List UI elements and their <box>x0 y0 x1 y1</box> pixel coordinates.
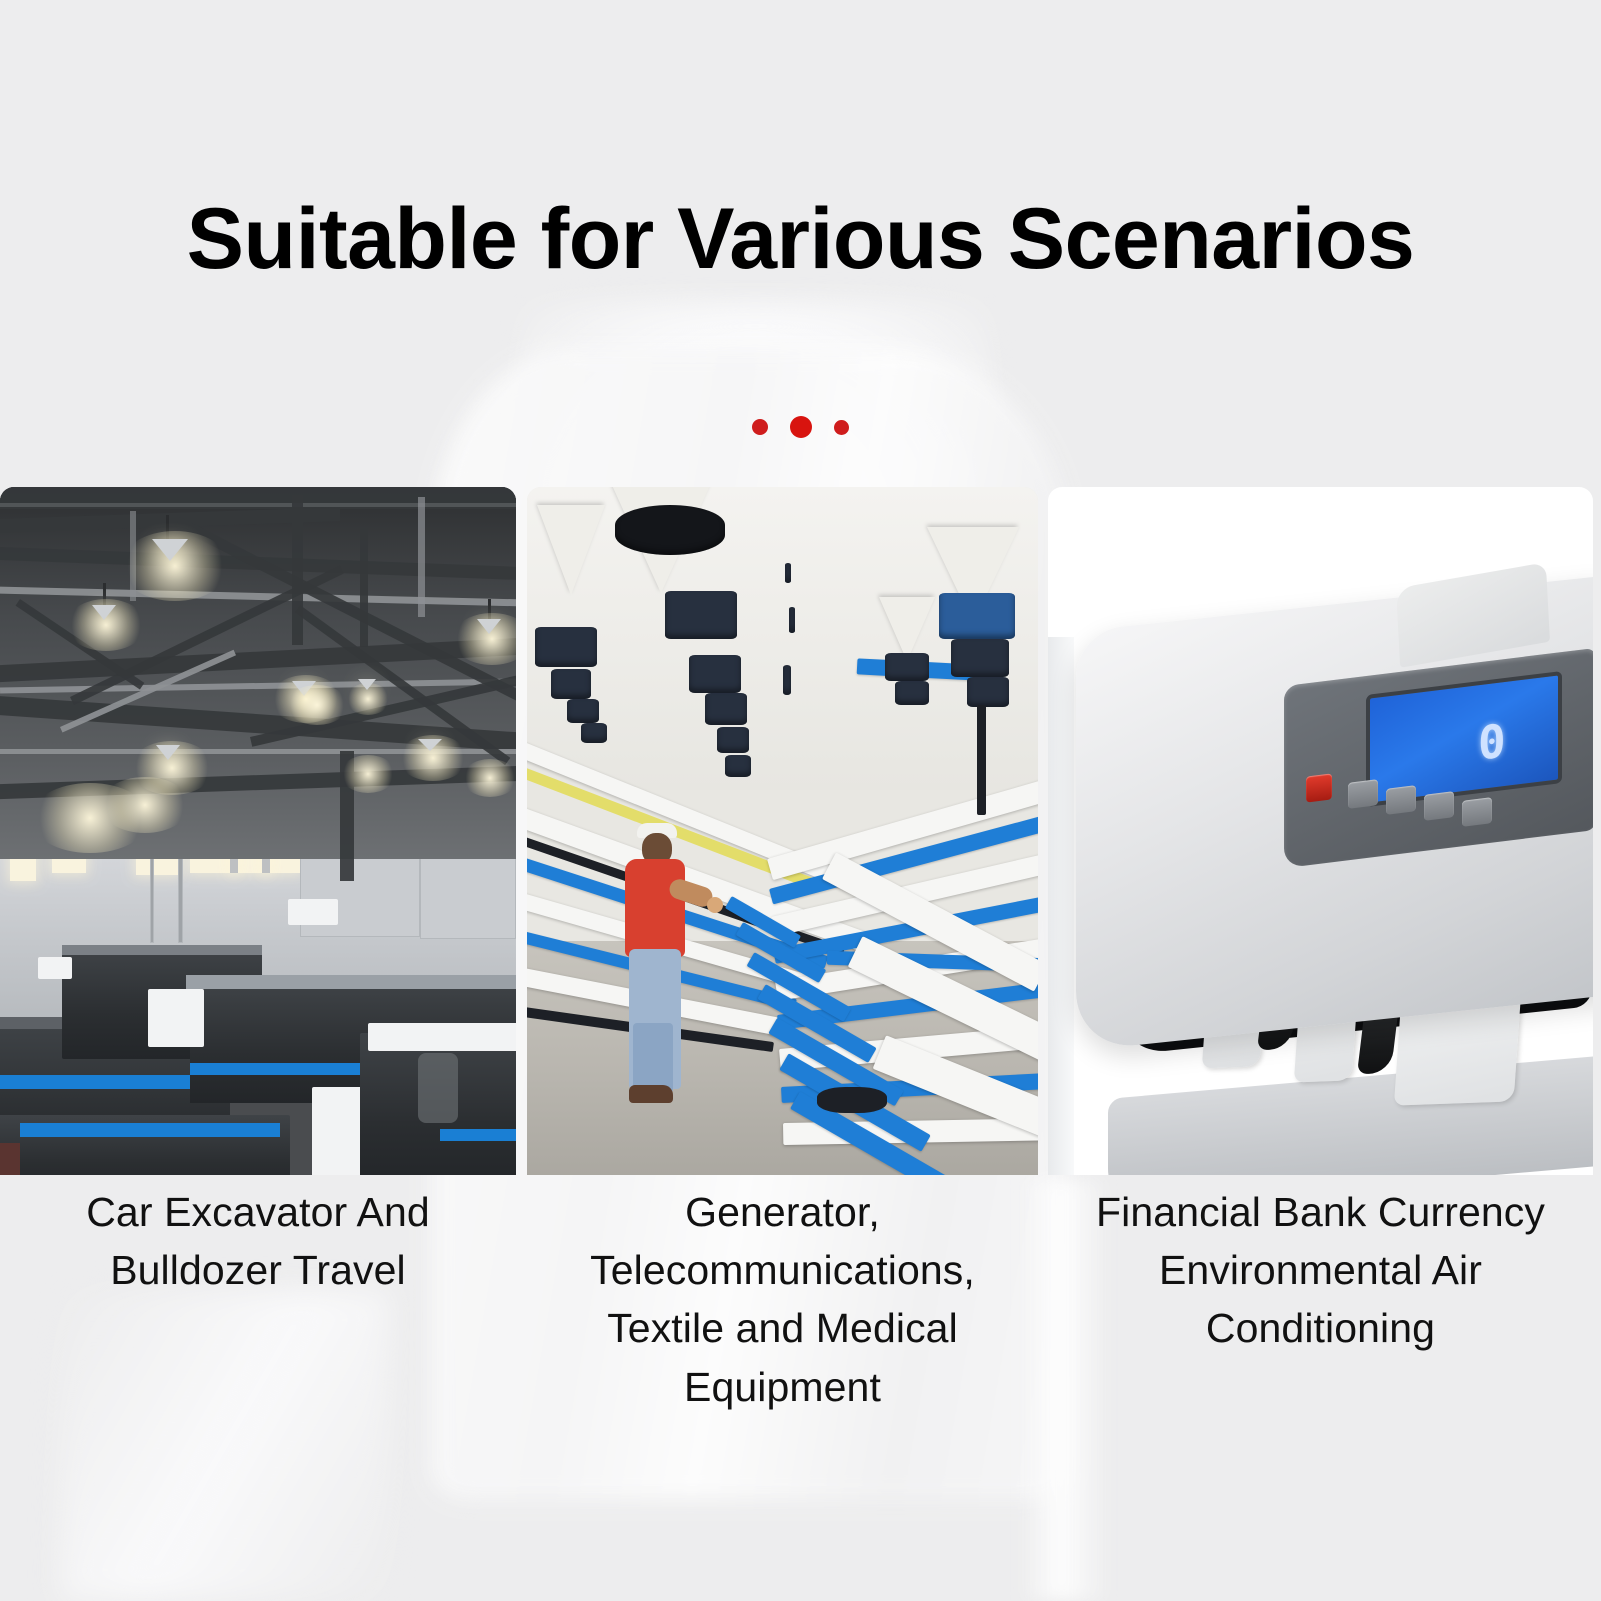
spindle <box>551 669 591 699</box>
spindle <box>615 505 725 555</box>
function-button-1[interactable] <box>1348 779 1378 809</box>
scenario-panels: 0 <box>0 487 1601 1175</box>
spindle <box>535 627 597 667</box>
machine-top <box>62 945 262 955</box>
spindle <box>725 755 751 777</box>
function-button-4[interactable] <box>1462 797 1492 827</box>
lamp-glow <box>286 685 348 725</box>
pendant-light <box>156 745 180 760</box>
carousel-dot-3[interactable] <box>834 420 849 435</box>
column <box>418 497 425 617</box>
spindle <box>581 723 607 743</box>
spindle <box>789 607 795 633</box>
function-button-3[interactable] <box>1424 791 1454 821</box>
panel-industrial-warehouse[interactable] <box>0 487 516 1175</box>
factory-worker <box>613 817 705 1117</box>
machine-handle <box>418 1053 458 1123</box>
spindle <box>717 727 749 753</box>
panel-textile-mill[interactable] <box>527 487 1038 1175</box>
column <box>292 495 303 645</box>
yarn-cone <box>879 597 935 661</box>
lamp-glow <box>462 759 516 797</box>
lamp-glow <box>340 755 396 793</box>
spindle <box>885 653 929 681</box>
panel-currency-counter[interactable]: 0 <box>1048 487 1593 1175</box>
caption-currency-counter: Financial Bank Currency Environmental Ai… <box>1048 1183 1593 1358</box>
pendant-light <box>477 619 501 634</box>
carousel-dot-2[interactable] <box>790 416 812 438</box>
caption-industrial-warehouse: Car Excavator And Bulldozer Travel <box>0 1183 516 1299</box>
spindle-shaft <box>977 705 986 815</box>
spindle <box>665 591 737 639</box>
panel-captions: Car Excavator And Bulldozer Travel Gener… <box>0 1183 1601 1373</box>
caption-textile-mill: Generator, Telecommunications, Textile a… <box>527 1183 1038 1416</box>
photo-left-edge <box>1048 637 1074 1175</box>
spindle <box>939 593 1015 639</box>
machine-accent <box>20 1123 280 1137</box>
machine-part <box>0 1143 20 1175</box>
pendant-light <box>418 739 442 751</box>
textile-mill-photo <box>527 487 1038 1175</box>
spindle <box>967 677 1009 707</box>
pendant-light <box>92 605 116 620</box>
yarn-cone <box>537 505 605 595</box>
spindle <box>567 699 599 723</box>
mill-roller <box>817 1087 887 1113</box>
machine-top <box>186 975 516 989</box>
lcd-count-value: 0 <box>1478 713 1506 770</box>
worker-shirt <box>625 859 685 957</box>
pendant-light <box>358 679 376 690</box>
machine-accent <box>0 1075 200 1089</box>
spindle <box>895 681 929 705</box>
spindle <box>783 665 791 695</box>
function-button-2[interactable] <box>1386 785 1416 815</box>
spindle <box>689 655 741 693</box>
machine-cover <box>288 899 338 925</box>
column <box>360 527 368 647</box>
spindle <box>785 563 791 583</box>
worker-shoe <box>629 1085 673 1103</box>
spindle <box>951 639 1009 677</box>
warehouse-photo <box>0 487 516 1175</box>
machine-cover <box>148 989 204 1047</box>
page-title: Suitable for Various Scenarios <box>0 196 1601 282</box>
carousel-dot-1[interactable] <box>752 419 768 435</box>
power-button[interactable] <box>1306 773 1332 802</box>
machine-cover <box>38 957 72 979</box>
machine-top <box>368 1023 516 1051</box>
machine-accent <box>440 1129 516 1141</box>
roof-line <box>0 503 516 507</box>
worker-jeans <box>633 1023 673 1093</box>
spindle <box>705 693 747 725</box>
lamp-glow <box>100 777 190 833</box>
currency-counter-photo: 0 <box>1048 487 1593 1175</box>
pendant-light <box>152 539 188 561</box>
carousel-indicator[interactable] <box>0 410 1601 444</box>
worker-hand <box>707 897 723 913</box>
